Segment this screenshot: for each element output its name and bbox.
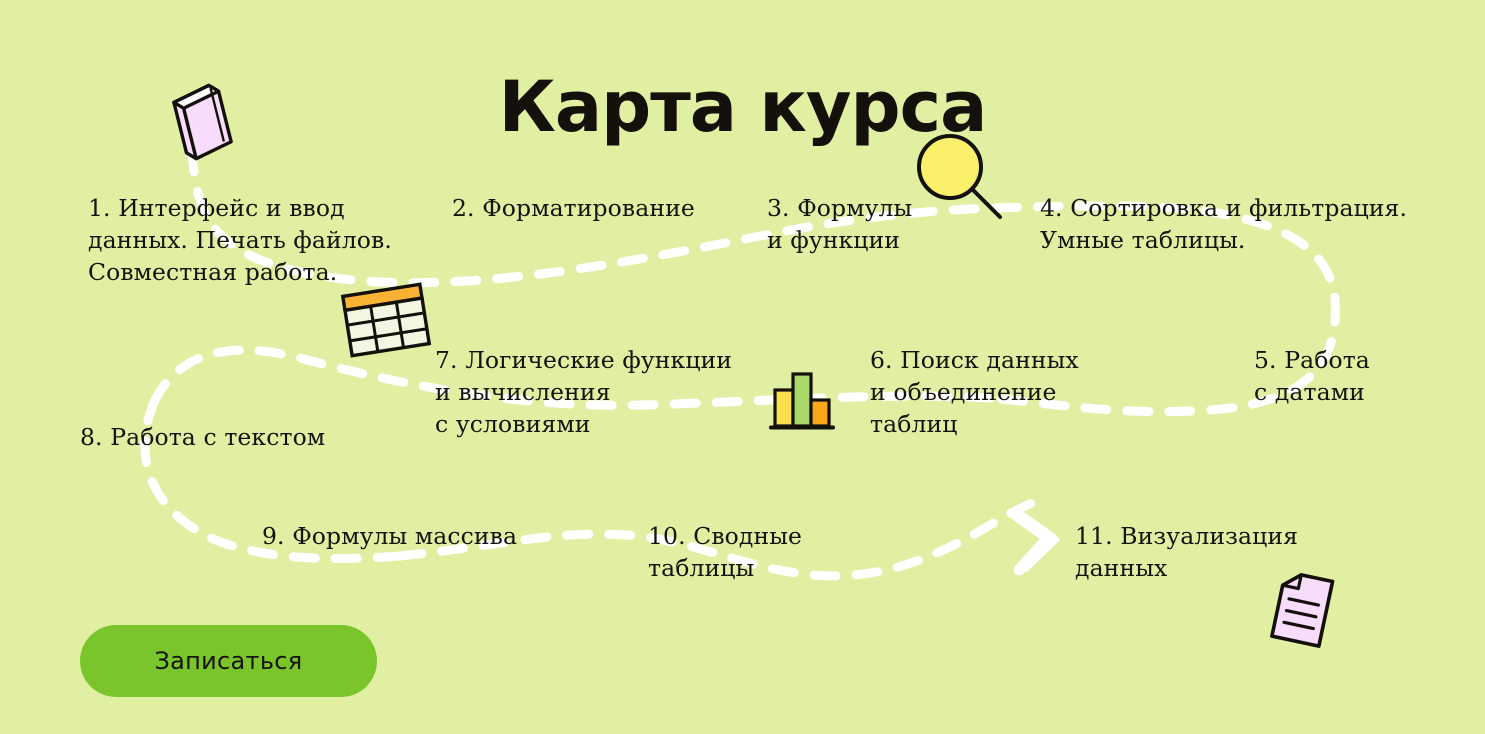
- course-roadmap-canvas: Карта курса: [0, 0, 1485, 734]
- enroll-button[interactable]: Записаться: [80, 625, 377, 697]
- roadmap-step-9: 9. Формулы массива: [262, 521, 517, 553]
- roadmap-step-6: 6. Поиск данных и объединение таблиц: [870, 345, 1079, 441]
- path-arrowhead: [1016, 512, 1060, 572]
- table-icon: [338, 280, 434, 364]
- roadmap-step-2: 2. Форматирование: [452, 193, 695, 225]
- roadmap-step-4: 4. Сортировка и фильтрация. Умные таблиц…: [1040, 193, 1407, 257]
- roadmap-step-7: 7. Логические функции и вычисления с усл…: [435, 345, 732, 441]
- page-title: Карта курса: [0, 71, 1485, 145]
- roadmap-step-11: 11. Визуализация данных: [1075, 521, 1298, 585]
- roadmap-step-1: 1. Интерфейс и ввод данных. Печать файло…: [88, 193, 392, 289]
- bar-chart-icon: [765, 362, 837, 440]
- roadmap-step-10: 10. Сводные таблицы: [648, 521, 802, 585]
- roadmap-step-3: 3. Формулы и функции: [767, 193, 912, 257]
- roadmap-step-5: 5. Работа с датами: [1254, 345, 1370, 409]
- roadmap-step-8: 8. Работа с текстом: [80, 422, 325, 454]
